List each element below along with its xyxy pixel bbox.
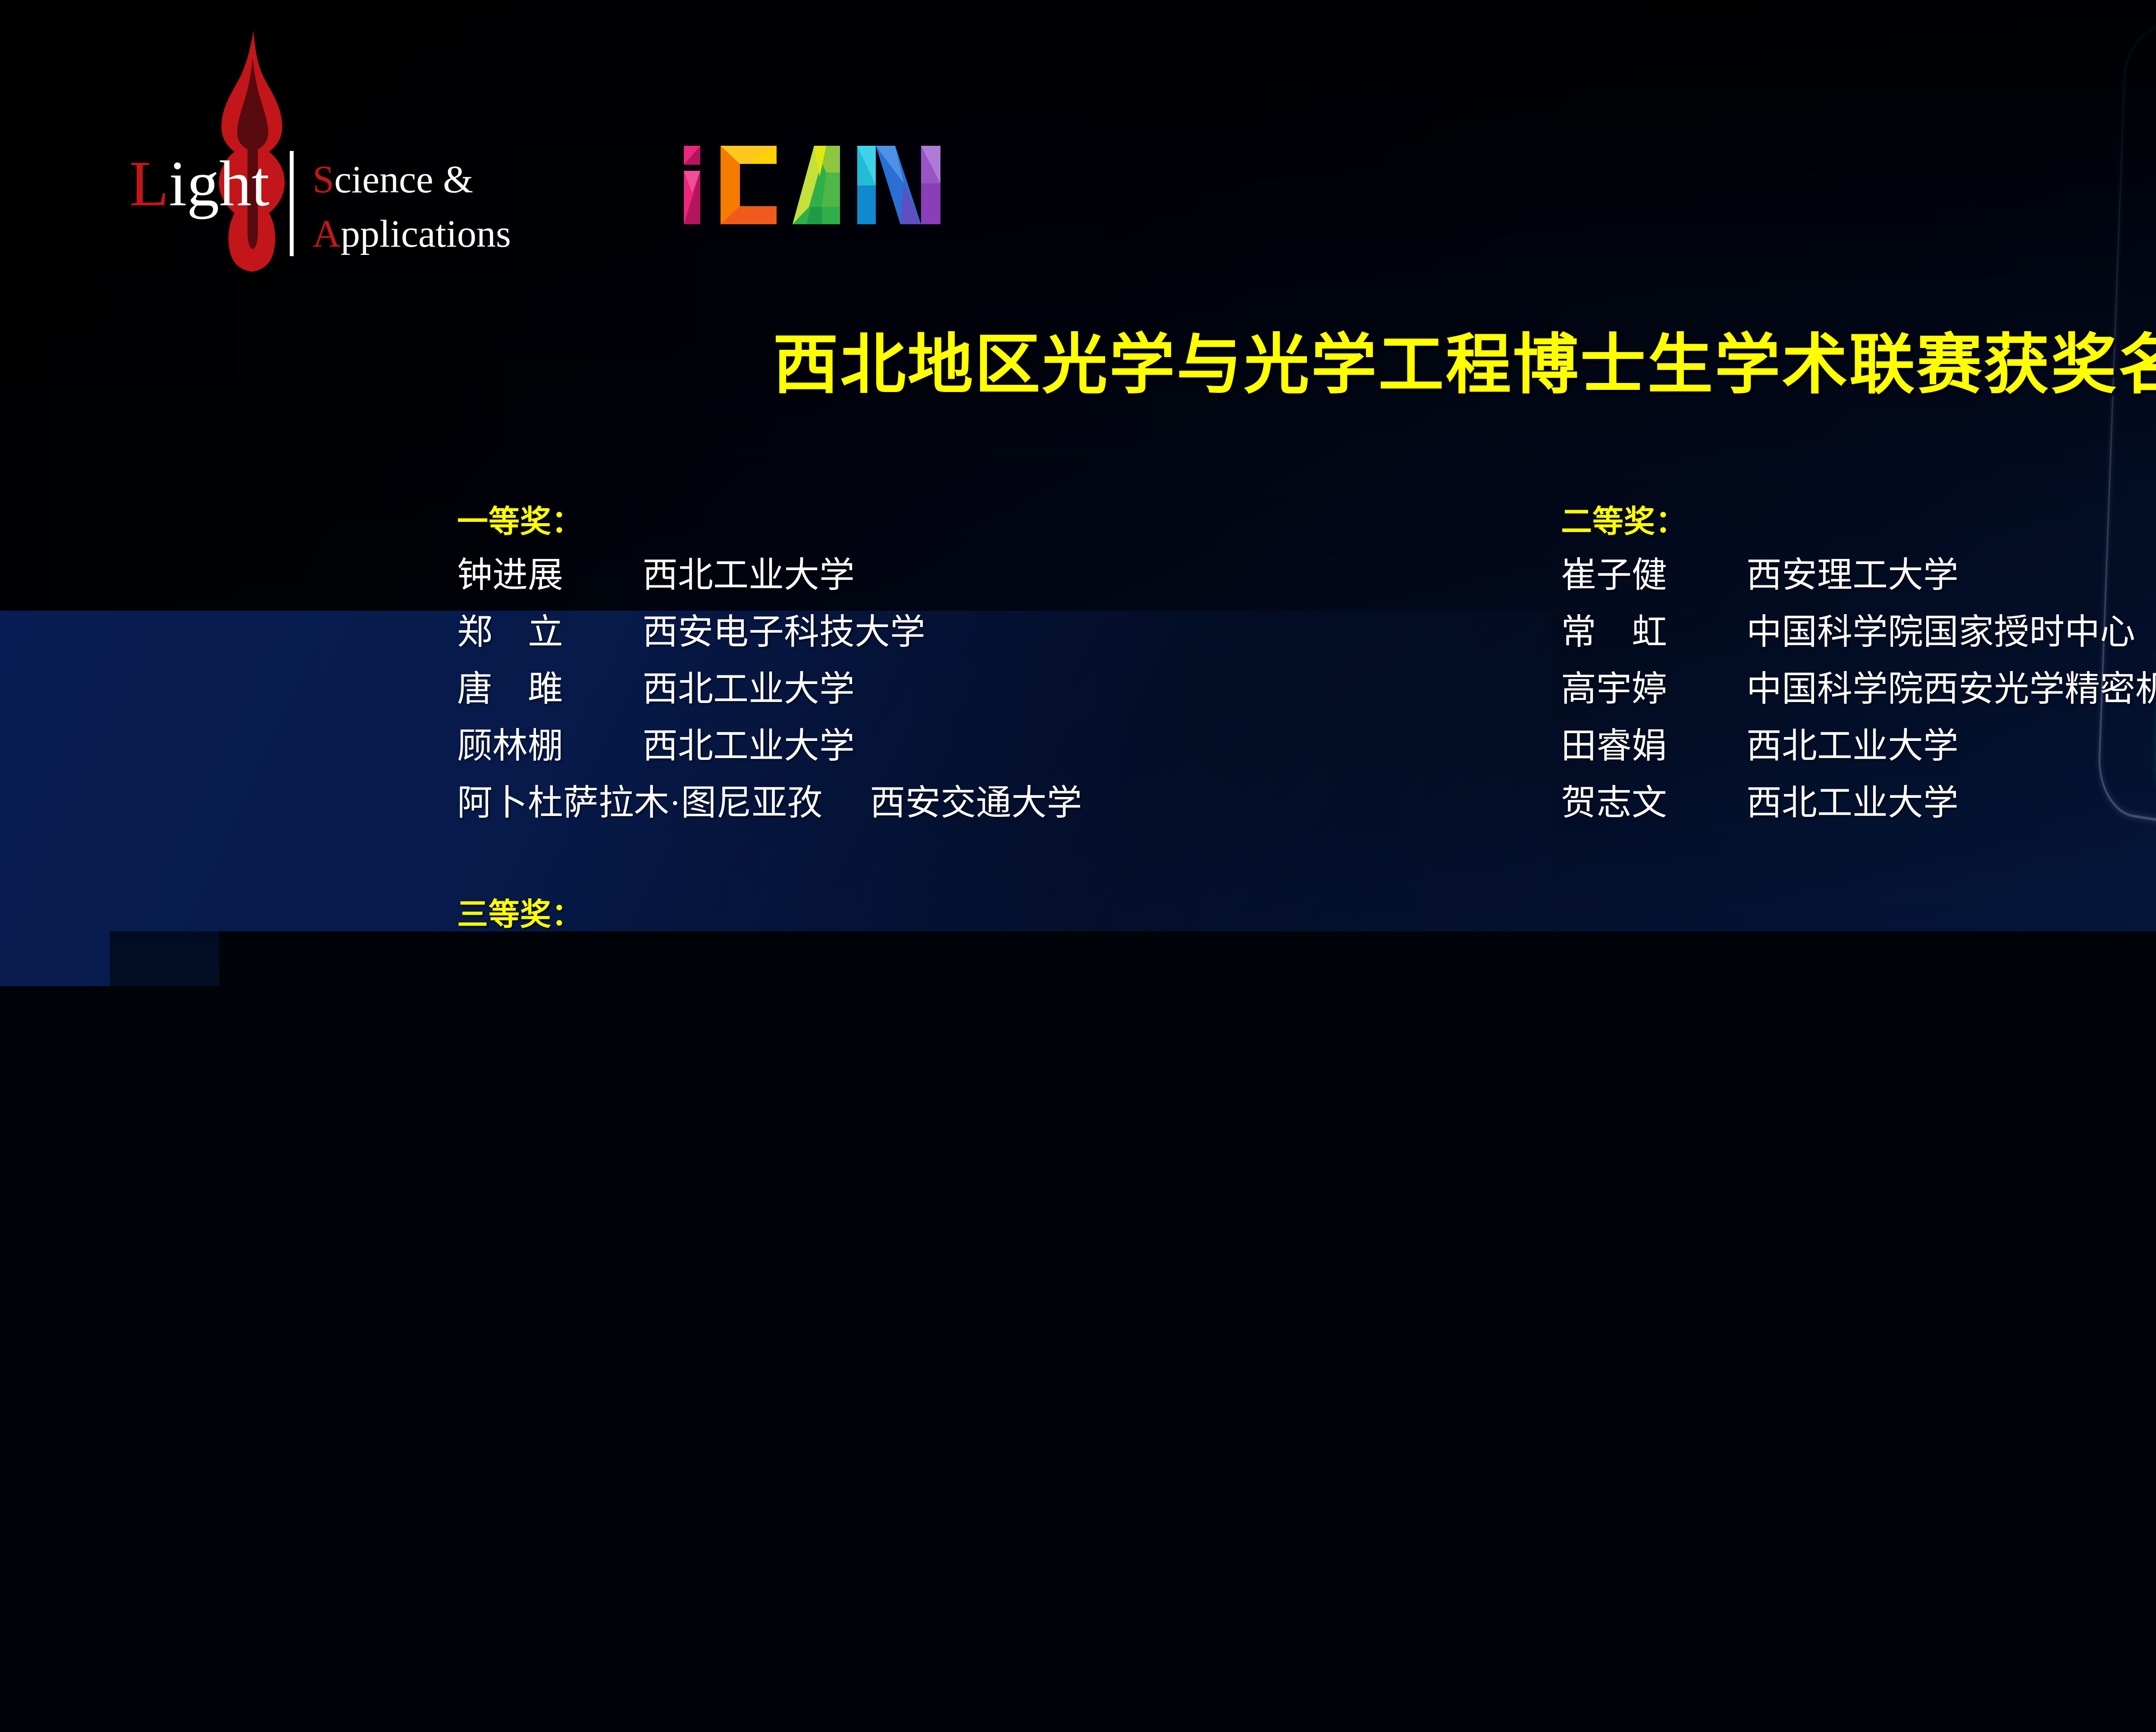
lsa-divider	[290, 151, 294, 256]
winner-name: 张晨曦	[457, 1007, 642, 1043]
winner-name: 金聪聪	[1561, 1067, 1746, 1103]
winner-row: 崔子健西安理工大学	[1561, 558, 2156, 615]
winner-name: 常 虹	[1561, 615, 1746, 650]
winner-org: 中国科学院国家授时中心	[1746, 615, 2135, 650]
winner-org: 西安电子科技大学	[642, 615, 925, 650]
winner-row: 田睿娟西北工业大学	[1561, 728, 2156, 785]
winner-org: 西安理工大学	[1746, 558, 1959, 593]
winner-name: 崔子健	[1561, 558, 1746, 593]
winner-row: 顾林棚西北工业大学	[457, 728, 1578, 785]
winner-name: 田睿娟	[1561, 728, 1746, 764]
winner-row: 贺志文西北工业大学	[1561, 785, 2156, 842]
winner-name: 顾林棚	[457, 728, 642, 764]
lsa-science-line: Science &	[313, 158, 473, 201]
lsa-wordmark: Light Light Science & Applications	[129, 151, 612, 263]
winner-org: 陕西师范大学	[642, 951, 855, 986]
award-heading-first-prize: 一等奖：	[457, 496, 1578, 541]
winner-name: 阿卜杜萨拉木·图尼亚孜	[457, 785, 870, 821]
winner-org: 西安交通大学	[1746, 954, 1959, 989]
winner-row: 钟进展西北工业大学	[457, 558, 1578, 615]
winner-row: 唐 雎西北工业大学	[457, 671, 1578, 728]
winner-name: 钟进展	[457, 558, 642, 593]
winner-row: 郑 立西安电子科技大学	[457, 615, 1578, 671]
winner-row: 王 啸西安交通大学	[457, 1064, 1578, 1121]
lsa-light-ight: Light	[129, 151, 269, 220]
winner-org: 兰州大学	[642, 1178, 784, 1214]
winner-row: 阿卜杜萨拉木·图尼亚孜西安交通大学	[457, 785, 1578, 842]
winner-list-second-prize: 崔子健西安理工大学 常 虹中国科学院国家授时中心 高宇婷中国科学院西安光学精密机…	[1561, 558, 2156, 842]
winner-row: 王 轩西安光机所	[1561, 1010, 2156, 1067]
heading-placeholder	[1561, 906, 2156, 954]
page-title: 西北地区光学与光学工程博士生学术联赛获奖名单	[0, 332, 2156, 398]
award-heading-second-prize: 二等奖：	[1561, 496, 2156, 541]
winner-org: 西安光机所	[1746, 1010, 1923, 1046]
winner-org: 西北工业大学	[642, 671, 855, 707]
winner-row: 滑时佳西北工业大学	[1561, 1181, 2156, 1238]
winner-row: 常 虹中国科学院国家授时中心	[1561, 615, 2156, 671]
lsa-applications-line: Applications	[313, 213, 511, 255]
ican-logo	[680, 142, 1025, 224]
winner-row: 高宇婷中国科学院西安光学精密机械研究所	[1561, 671, 2156, 728]
winner-name: 贺志文	[1561, 785, 1746, 821]
section-spacer	[457, 842, 1578, 889]
winner-org: 西北工业大学	[642, 728, 855, 764]
ican-wordmark-svg	[680, 142, 1025, 224]
ican-letter-N	[857, 146, 940, 224]
awards-column-right: 二等奖： 崔子健西安理工大学 常 虹中国科学院国家授时中心 高宇婷中国科学院西安…	[1561, 496, 2156, 1238]
winner-name: 彭家俊	[457, 951, 642, 986]
winner-name: 张何泽	[457, 1121, 642, 1157]
awards-content: 一等奖： 钟进展西北工业大学 郑 立西安电子科技大学 唐 雎西北工业大学 顾林棚…	[0, 496, 2156, 1617]
ican-letter-A	[793, 146, 840, 224]
award-heading-third-prize: 三等奖：	[457, 889, 1578, 934]
winner-row: 张晨曦陕西师范大学	[457, 1007, 1578, 1064]
ican-letter-i	[684, 146, 700, 224]
winner-list-third-prize-right: 马光东西安交通大学 王 轩西安光机所 金聪聪新疆理化技术研究所 张 录西北工业大…	[1561, 954, 2156, 1238]
winner-name: 马光东	[1561, 954, 1746, 989]
awards-column-left: 一等奖： 钟进展西北工业大学 郑 立西安电子科技大学 唐 雎西北工业大学 顾林棚…	[457, 496, 1578, 1235]
winner-org: 西北工业大学	[642, 1121, 855, 1157]
winner-name: 郑 立	[457, 615, 642, 650]
winner-org: 西安交通大学	[642, 1064, 855, 1100]
winner-row: 马光东西安交通大学	[1561, 954, 2156, 1010]
winner-org: 陕西师范大学	[642, 1007, 855, 1043]
winner-list-first-prize: 钟进展西北工业大学 郑 立西安电子科技大学 唐 雎西北工业大学 顾林棚西北工业大…	[457, 558, 1578, 842]
winner-org: 西北工业大学	[1746, 1124, 1959, 1160]
winner-org: 西北工业大学	[1746, 785, 1959, 821]
winner-name: 王 啸	[457, 1064, 642, 1100]
winner-name: 高宇婷	[1561, 671, 1746, 707]
winner-org: 西北工业大学	[1746, 1181, 1959, 1217]
winner-row: 张何泽西北工业大学	[457, 1121, 1578, 1178]
winner-org: 西北工业大学	[642, 558, 855, 593]
section-spacer	[1561, 842, 2156, 889]
winner-row: 张 录西北工业大学	[1561, 1124, 2156, 1181]
winner-name: 唐 雎	[457, 671, 642, 707]
ican-letter-C	[721, 146, 777, 224]
winner-org: 新疆理化技术研究所	[1746, 1067, 2065, 1103]
winner-row: 金聪聪新疆理化技术研究所	[1561, 1067, 2156, 1124]
winner-name: 张 录	[1561, 1124, 1746, 1160]
winner-org: 中国科学院西安光学精密机械研究所	[1746, 671, 2156, 707]
bottom-white-strip	[0, 1718, 2156, 1732]
winner-row: 蒋永恒兰州大学	[457, 1178, 1578, 1235]
winner-name: 王 轩	[1561, 1010, 1746, 1046]
light-science-applications-logo: Light Light Science & Applications	[129, 86, 612, 267]
winner-name: 滑时佳	[1561, 1181, 1746, 1217]
winner-name: 蒋永恒	[457, 1178, 642, 1214]
winner-org: 西安交通大学	[870, 785, 1082, 821]
section-spacer-small	[1561, 889, 2156, 906]
winner-list-third-prize-left: 彭家俊陕西师范大学 张晨曦陕西师范大学 王 啸西安交通大学 张何泽西北工业大学 …	[457, 951, 1578, 1235]
winner-row: 彭家俊陕西师范大学	[457, 951, 1578, 1007]
logo-bar: Light Light Science & Applications	[0, 0, 2156, 276]
slide-root: Light Light Science & Applications	[0, 0, 2156, 1732]
winner-org: 西北工业大学	[1746, 728, 1959, 764]
